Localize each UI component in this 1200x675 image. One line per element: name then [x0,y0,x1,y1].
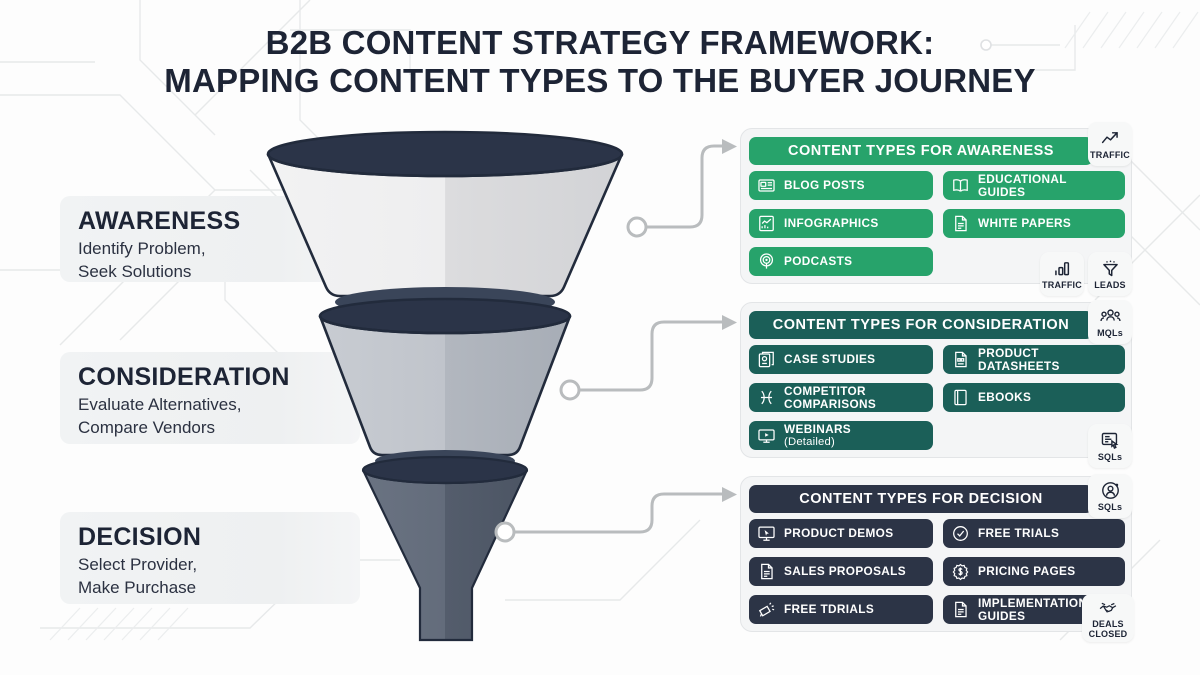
form-click-icon [1099,430,1121,452]
chip-label: CASE STUDIES [784,353,875,366]
kpi-badge-traffic-line[interactable]: TRAFFIC [1088,122,1132,166]
kpi-badge-label: SQLs [1098,453,1122,462]
kpi-badge-deals-closed[interactable]: DEALS CLOSED [1082,594,1134,642]
user-circle-icon [1099,480,1121,502]
chip-label-sub: GUIDES [978,185,1025,199]
kpi-badge-traffic-bar[interactable]: TRAFFIC [1040,252,1084,296]
monitor-play-icon [757,426,776,445]
monitor-cursor-icon [757,524,776,543]
kpi-badge-label: SQLs [1098,503,1122,512]
microphone-icon [757,252,776,271]
chip-label: COMPETITOR COMPARISONS [784,385,876,410]
kpi-badge-label: DEALS CLOSED [1089,620,1128,639]
datasheet-icon [951,350,970,369]
panel-header-awareness: CONTENT TYPES FOR AWARENESS [749,137,1093,165]
chip-white-papers[interactable]: WHITE PAPERS [943,209,1125,238]
kpi-badge-sqls-form[interactable]: SQLs [1088,424,1132,468]
stage-desc-consideration-line2: Compare Vendors [78,418,215,437]
chip-label: PODCASTS [784,255,852,268]
funnel-section-decision [363,457,527,640]
funnel-diagram [240,120,710,650]
kpi-badge-label: MQLs [1097,329,1123,338]
kpi-badge-label-line2: CLOSED [1089,629,1128,639]
page-title: B2B CONTENT STRATEGY FRAMEWORK: MAPPING … [0,24,1200,101]
bar-chart-icon [1051,258,1073,280]
stage-desc-consideration-line1: Evaluate Alternatives, [78,395,241,414]
chip-infographics[interactable]: INFOGRAPHICS [749,209,933,238]
chip-label: INFOGRAPHICS [784,217,879,230]
chip-label: IMPLEMENTATION GUIDES [978,597,1087,622]
stage-desc-decision-line2: Make Purchase [78,578,196,597]
panel-consideration[interactable]: CONTENT TYPES FOR CONSIDERATION CASE STU… [740,302,1132,458]
kpi-badge-leads[interactable]: LEADS [1088,252,1132,296]
title-line-1: B2B CONTENT STRATEGY FRAMEWORK: [0,24,1200,62]
document-icon [757,562,776,581]
funnel-section-consideration [320,299,570,472]
newspaper-icon [757,176,776,195]
stage-desc-awareness-line2: Seek Solutions [78,262,191,281]
chip-label-sub: COMPARISONS [784,397,876,411]
chip-group-decision: PRODUCT DEMOS FREE TRIALS [749,519,1125,625]
kpi-badge-sqls-user[interactable]: SQLs [1088,474,1132,518]
chip-label-main: WEBINARS [784,422,851,436]
chip-label: PRODUCT DATASHEETS [978,347,1060,372]
chip-blog-posts[interactable]: BLOG POSTS [749,171,933,200]
megaphone-icon [757,600,776,619]
chart-document-icon [757,214,776,233]
chip-ebooks[interactable]: EBOOKS [943,383,1125,412]
chip-label: PRODUCT DEMOS [784,527,893,540]
panel-header-consideration: CONTENT TYPES FOR CONSIDERATION [749,311,1093,339]
infographic-canvas: B2B CONTENT STRATEGY FRAMEWORK: MAPPING … [0,0,1200,675]
chip-label: FREE TDRIALS [784,603,874,616]
stage-desc-awareness-line1: Identify Problem, [78,239,206,258]
chip-product-datasheets[interactable]: PRODUCT DATASHEETS [943,345,1125,374]
chip-label: EBOOKS [978,391,1031,404]
chip-label: SALES PROPOSALS [784,565,906,578]
trend-up-icon [1099,128,1121,150]
funnel-icon [1099,258,1121,280]
panel-header-decision: CONTENT TYPES FOR DECISION [749,485,1093,513]
chip-label: WHITE PAPERS [978,217,1071,230]
people-group-icon [1099,306,1121,328]
funnel-section-awareness [268,132,622,317]
title-line-2: MAPPING CONTENT TYPES TO THE BUYER JOURN… [0,62,1200,100]
open-book-icon [951,176,970,195]
chip-product-demos[interactable]: PRODUCT DEMOS [749,519,933,548]
document-icon [951,214,970,233]
chip-label: PRICING PAGES [978,565,1075,578]
document-icon [951,600,970,619]
stacked-docs-icon [757,350,776,369]
chip-label: EDUCATIONAL GUIDES [978,173,1067,198]
chip-label: FREE TRIALS [978,527,1059,540]
panel-decision[interactable]: CONTENT TYPES FOR DECISION PRODUCT DEMOS [740,476,1132,632]
kpi-badge-label: TRAFFIC [1090,151,1130,160]
kpi-badge-mqls[interactable]: MQLs [1088,300,1132,344]
chip-label-sub: GUIDES [978,609,1025,623]
chip-label-sub: DATASHEETS [978,359,1060,373]
chip-free-tdrials[interactable]: FREE TDRIALS [749,595,933,624]
dollar-badge-icon [951,562,970,581]
chip-case-studies[interactable]: CASE STUDIES [749,345,933,374]
chip-label: BLOG POSTS [784,179,865,192]
chip-webinars[interactable]: WEBINARS (Detailed) [749,421,933,450]
check-circle-icon [951,524,970,543]
chip-educational-guides[interactable]: EDUCATIONAL GUIDES [943,171,1125,200]
chip-sales-proposals[interactable]: SALES PROPOSALS [749,557,933,586]
chip-pricing-pages[interactable]: PRICING PAGES [943,557,1125,586]
chip-label-sub: (Detailed) [784,436,835,448]
chip-competitor-comparisons[interactable]: COMPETITOR COMPARISONS [749,383,933,412]
handshake-icon [1097,597,1119,619]
compare-icon [757,388,776,407]
chip-podcasts[interactable]: PODCASTS [749,247,933,276]
chip-free-trials[interactable]: FREE TRIALS [943,519,1125,548]
chip-group-consideration: CASE STUDIES PRODUCT DATASHEETS [749,345,1125,451]
kpi-badge-label: LEADS [1094,281,1126,290]
chip-label: WEBINARS (Detailed) [784,423,851,449]
kpi-badge-label: TRAFFIC [1042,281,1082,290]
book-icon [951,388,970,407]
stage-desc-decision-line1: Select Provider, [78,555,197,574]
